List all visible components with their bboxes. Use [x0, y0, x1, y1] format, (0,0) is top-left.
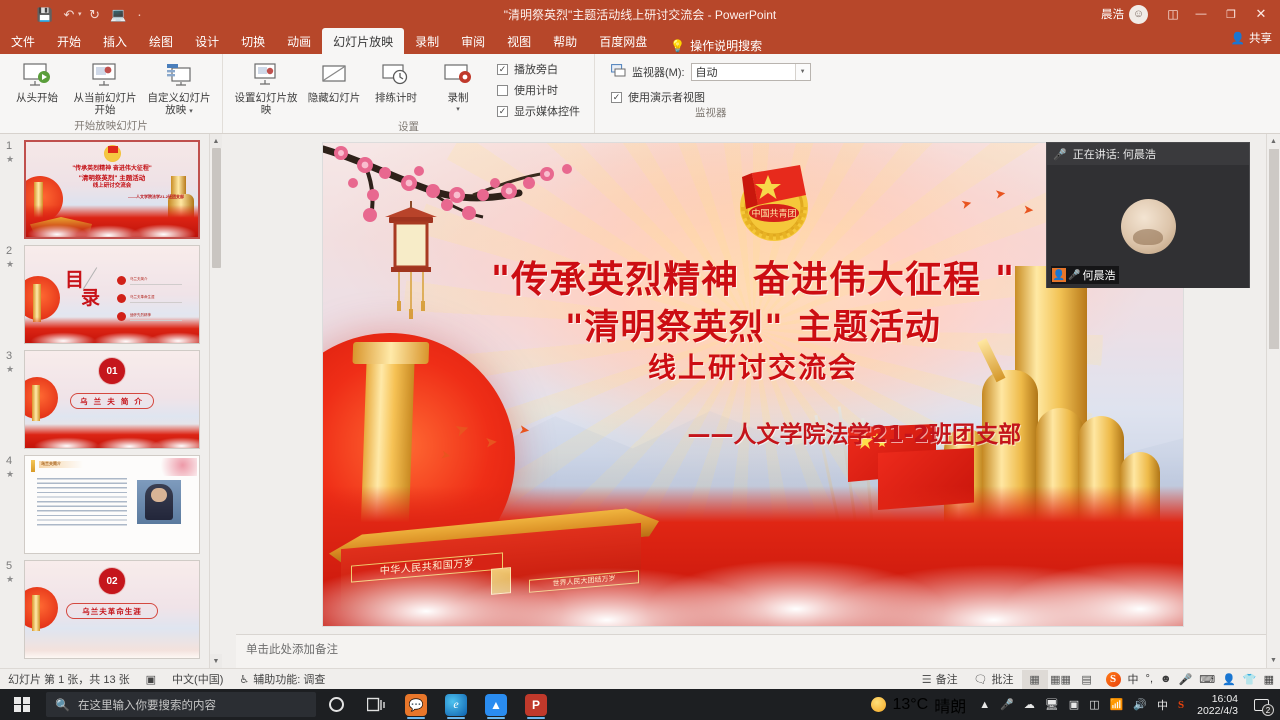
ime-toolbar[interactable]: S 中 °, ☻ 🎤 ⌨ 👤 👕 ▦ — [1100, 671, 1280, 687]
battery-icon[interactable]: ◫ — [1084, 698, 1104, 711]
setup-slideshow-icon — [251, 60, 281, 90]
view-normal-button[interactable]: ▦ — [1022, 670, 1048, 689]
button-custom-slideshow[interactable]: 自定义幻灯片放映 ▾ — [142, 57, 216, 118]
comments-icon: 🗨 — [974, 673, 988, 686]
bird-decoration: ➤ — [994, 186, 1007, 200]
monitor-icon — [611, 64, 626, 80]
emblem-text: 中国共青团 — [751, 208, 796, 220]
ribbon-group-setup: 设置幻灯片放映 隐藏幻灯片 — [222, 54, 594, 133]
button-from-beginning[interactable]: 从头开始 — [6, 57, 68, 104]
thumbnail-3-title: 乌 兰 夫 简 介 — [70, 393, 154, 409]
thumbnail-2-item-1: 乌兰夫简介 — [130, 277, 182, 285]
ribbon-group-monitors: 监视器(M): 自动 ▼ ✓ 使用演示者视图 监视器 — [594, 54, 827, 133]
button-hide-slide-label: 隐藏幻灯片 — [308, 92, 361, 104]
microphone-icon: 🎤 — [1068, 270, 1080, 281]
edge-icon[interactable]: e — [436, 689, 476, 720]
thumbnail-star-3: ★ — [6, 363, 24, 376]
thumbnail-5-title: 乌兰夫革命生涯 — [66, 603, 158, 619]
ribbon-group-start-slideshow: 从头开始 从当前幻灯片开始 — [0, 54, 222, 133]
thumbnail-scroll-thumb[interactable] — [212, 148, 221, 268]
button-hide-slide[interactable]: 隐藏幻灯片 — [303, 57, 365, 104]
comments-button-label: 批注 — [992, 671, 1014, 687]
tab-animations[interactable]: 动画 — [276, 28, 322, 54]
tab-file[interactable]: 文件 — [0, 28, 46, 54]
thumbnail-preview-5[interactable]: 02 乌兰夫革命生涯 — [24, 560, 200, 659]
youth-league-emblem: 中国共青团 — [728, 155, 820, 247]
thumbnail-star-5: ★ — [6, 573, 24, 586]
accessibility-label: 辅助功能: 调查 — [253, 671, 325, 687]
slide-title-line-3[interactable]: 线上研讨交流会 — [323, 346, 1183, 386]
tell-me-label: 操作说明搜索 — [690, 37, 762, 54]
tab-draw[interactable]: 绘图 — [138, 28, 184, 54]
tab-view[interactable]: 视图 — [496, 28, 542, 54]
rehearse-timings-icon — [381, 60, 411, 90]
tab-review[interactable]: 审阅 — [450, 28, 496, 54]
wifi-icon[interactable]: 📶 — [1105, 698, 1129, 711]
language-label[interactable]: 中文(中国) — [164, 671, 231, 687]
play-from-current-icon — [90, 60, 120, 90]
record-icon — [443, 60, 473, 90]
play-from-start-icon — [22, 60, 52, 90]
thumbnail-number-5: 5 — [6, 560, 12, 572]
ribbon-tabs: 文件 开始 插入 绘图 设计 切换 动画 幻灯片放映 录制 审阅 视图 帮助 百… — [0, 28, 1280, 54]
minimize-button[interactable]: — — [1186, 0, 1216, 28]
notes-pane[interactable]: 单击此处添加备注 — [236, 634, 1266, 668]
thumbnail-5-badge: 02 — [98, 567, 126, 595]
tab-design[interactable]: 设计 — [184, 28, 230, 54]
participant-name-tag: 👤 🎤 何晨浩 — [1051, 266, 1119, 284]
ime-keyboard-icon[interactable]: ⌨ — [1199, 673, 1215, 686]
tab-home[interactable]: 开始 — [46, 28, 92, 54]
thumbnail-item-3[interactable]: 3 ★ 01 乌 兰 夫 简 介 — [0, 344, 222, 449]
checkbox-use-timings[interactable]: 使用计时 — [497, 82, 580, 98]
checkbox-use-presenter-view-box[interactable]: ✓ — [611, 92, 622, 103]
checkbox-show-media-controls-label: 显示媒体控件 — [514, 103, 580, 119]
checkbox-use-presenter-view-label: 使用演示者视图 — [628, 89, 705, 105]
cloud-icon[interactable]: ☁ — [1019, 698, 1040, 711]
custom-slideshow-icon — [164, 60, 194, 90]
checkbox-use-presenter-view[interactable]: ✓ 使用演示者视图 — [611, 89, 811, 105]
participant-name: 何晨浩 — [1082, 267, 1115, 283]
monitor-label: 监视器(M): — [632, 64, 685, 80]
scroll-up-icon[interactable]: ▲ — [1267, 134, 1280, 149]
thumbnail-4-title: 乌兰夫简介 — [41, 461, 61, 467]
ribbon-group-start-slideshow-label: 开始放映幻灯片 — [6, 118, 216, 135]
clock-date: 2022/4/3 — [1197, 705, 1238, 717]
restore-button[interactable]: ❐ — [1216, 0, 1246, 28]
sogou-tray-icon[interactable]: S — [1173, 699, 1189, 711]
thumbnail-item-2[interactable]: 2 ★ 目 录 乌兰夫简介 — [0, 239, 222, 344]
ribbon: 从头开始 从当前幻灯片开始 — [0, 54, 1280, 134]
slide-thumbnail-pane[interactable]: 1 ★ "传承英烈精神 奋进伟大征程" "清明祭英烈" 主题活动 — [0, 134, 222, 668]
tray-chevron-icon[interactable]: ▲ — [974, 699, 995, 711]
ribbon-display-options-icon[interactable]: ◫ — [1160, 1, 1186, 27]
status-bar: 幻灯片 第 1 张，共 13 张 ▣ 中文(中国) ♿ 辅助功能: 调查 ☰ 备… — [0, 668, 1280, 689]
ime-microphone-icon[interactable]: 🎤 — [1179, 673, 1193, 686]
tab-record[interactable]: 录制 — [404, 28, 450, 54]
person-icon: 👤 — [1052, 268, 1066, 282]
accessibility-status[interactable]: ♿ 辅助功能: 调查 — [231, 671, 333, 687]
start-presentation-icon[interactable]: 💻 — [108, 3, 130, 25]
window-title: "清明祭英烈"主题活动线上研讨交流会 - PowerPoint — [0, 6, 1280, 23]
microphone-icon: 🎤 — [1053, 148, 1067, 161]
tab-slideshow[interactable]: 幻灯片放映 — [322, 28, 404, 54]
weather-condition: 晴朗 — [934, 693, 966, 717]
button-record[interactable]: 录制 ▾ — [427, 57, 489, 116]
powerpoint-icon[interactable]: P — [516, 689, 556, 720]
avatar[interactable]: ☺ — [1129, 5, 1148, 24]
button-record-label: 录制 — [448, 92, 469, 104]
scroll-thumb[interactable] — [1269, 149, 1279, 349]
share-button[interactable]: 👤 共享 — [1231, 30, 1272, 46]
slide-count-label[interactable]: 幻灯片 第 1 张，共 13 张 — [0, 671, 138, 687]
clouds-decoration — [323, 532, 1183, 627]
weather-widget[interactable]: 13°C 晴朗 — [867, 693, 974, 717]
ime-emoji-icon[interactable]: ☻ — [1160, 673, 1172, 685]
thumbnail-2-mu: 目 — [65, 272, 84, 289]
thumbnail-2-item-3: 缅怀先烈精神 — [130, 313, 182, 321]
thumbnail-item-1[interactable]: 1 ★ "传承英烈精神 奋进伟大征程" "清明祭英烈" 主题活动 — [0, 134, 222, 239]
sogou-ime-logo[interactable]: S — [1106, 672, 1121, 687]
notes-button-label: 备注 — [936, 671, 958, 687]
search-icon: 🔍 — [55, 698, 70, 712]
ime-indicator[interactable]: 中 — [1152, 697, 1173, 713]
button-from-current-slide-label: 从当前幻灯片开始 — [69, 92, 141, 116]
meeting-video-body[interactable]: 👤 🎤 何晨浩 — [1047, 165, 1249, 288]
title-bar-right: 晨浩 ☺ ◫ — ❐ ✕ — [1101, 0, 1280, 28]
button-rehearse-timings-label: 排练计时 — [375, 92, 417, 104]
view-reading-button[interactable]: ▤ — [1074, 670, 1100, 689]
share-person-icon: 👤 — [1231, 31, 1245, 45]
scroll-down-icon[interactable]: ▼ — [1267, 653, 1280, 668]
thumbnail-star-4: ★ — [6, 468, 24, 481]
cortana-icon[interactable] — [316, 689, 356, 720]
search-placeholder: 在这里输入你要搜索的内容 — [78, 697, 216, 713]
thumbnail-1-subtitle: ——人文学院法学21-2班团支部 — [128, 194, 184, 200]
thumbnail-star-1: ★ — [6, 153, 24, 166]
view-slide-sorter-button[interactable]: ▦▦ — [1048, 670, 1074, 689]
thumbnail-number-4: 4 — [6, 455, 12, 467]
ime-skin-icon[interactable]: 👕 — [1243, 673, 1257, 686]
bird-decoration: ➤ — [1023, 203, 1035, 217]
powerpoint-window: 💾 ↶ ▾ ↻ 💻 · "清明祭英烈"主题活动线上研讨交流会 - PowerPo… — [0, 0, 1280, 720]
thumbnail-number-2: 2 — [6, 245, 12, 257]
quick-access-toolbar: 💾 ↶ ▾ ↻ 💻 · — [0, 3, 148, 25]
clock-time: 16:04 — [1212, 693, 1238, 705]
button-from-beginning-label: 从头开始 — [16, 92, 58, 104]
redo-icon[interactable]: ↻ — [84, 3, 106, 25]
thumbnail-item-5[interactable]: 5 ★ 02 乌兰夫革命生涯 — [0, 554, 222, 659]
close-button[interactable]: ✕ — [1246, 0, 1276, 28]
thumbnail-preview-3[interactable]: 01 乌 兰 夫 简 介 — [24, 350, 200, 449]
microphone-icon[interactable]: 🎤 — [995, 698, 1019, 711]
lightbulb-icon: 💡 — [670, 39, 685, 53]
system-tray: 13°C 晴朗 ▲ 🎤 ☁ 🖥 ▣ ◫ 📶 🔊 中 S 16:04 2022/4… — [867, 689, 1280, 720]
ime-punctuation-toggle[interactable]: °, — [1146, 673, 1153, 685]
hide-slide-icon — [319, 60, 349, 90]
task-view-icon[interactable] — [356, 689, 396, 720]
tell-me-search[interactable]: 💡 操作说明搜索 — [658, 37, 762, 54]
thumbnail-number-1: 1 — [6, 140, 12, 152]
thumbnail-star-2: ★ — [6, 258, 24, 271]
slide-title-line-2[interactable]: "清明祭英烈" 主题活动 — [323, 299, 1183, 350]
slide-layout-icon[interactable]: ▣ — [138, 673, 164, 686]
wechat-icon[interactable]: 💬 — [396, 689, 436, 720]
bird-decoration: ➤ — [484, 434, 498, 450]
custom-slideshow-caret-icon[interactable]: ▾ — [189, 108, 193, 115]
taskbar-search-box[interactable]: 🔍 在这里输入你要搜索的内容 — [46, 692, 316, 717]
speaking-label: 正在讲话: 何晨浩 — [1073, 146, 1156, 162]
setup-checkbox-group: ✓ 播放旁白 使用计时 ✓ 显示媒体控件 — [489, 57, 588, 119]
thumbnail-2-item-2: 乌兰夫革命生涯 — [130, 295, 182, 303]
thumbnail-scroll-up-icon[interactable]: ▲ — [210, 134, 222, 148]
notes-icon: ☰ — [922, 673, 932, 686]
checkbox-use-timings-label: 使用计时 — [514, 82, 558, 98]
save-icon[interactable]: 💾 — [34, 3, 56, 25]
thumbnail-preview-2[interactable]: 目 录 乌兰夫简介 乌兰夫革命生涯 缅怀先烈精神 — [24, 245, 200, 344]
tab-transitions[interactable]: 切换 — [230, 28, 276, 54]
thumbnail-scrollbar[interactable]: ▲ ▼ — [209, 134, 222, 668]
ime-apps-icon[interactable]: ▦ — [1264, 673, 1274, 686]
notification-count: 2 — [1262, 704, 1274, 716]
button-set-up-slideshow-label: 设置幻灯片放映 — [230, 92, 302, 116]
button-set-up-slideshow[interactable]: 设置幻灯片放映 — [229, 57, 303, 116]
thumbnail-preview-1[interactable]: "传承英烈精神 奋进伟大征程" "清明祭英烈" 主题活动 线上研讨交流会 ——人… — [24, 140, 200, 239]
weather-temperature: 13°C — [892, 696, 928, 714]
qat-more-icon[interactable]: · — [132, 3, 148, 25]
thumbnail-preview-4[interactable]: 乌兰夫简介 — [24, 455, 200, 554]
volume-icon[interactable]: 🔊 — [1128, 698, 1152, 711]
notification-center-icon[interactable]: 2 — [1246, 689, 1276, 720]
chevron-down-icon[interactable]: ▼ — [795, 64, 810, 80]
monitor-select[interactable]: 自动 ▼ — [691, 63, 811, 81]
meeting-video-header: 🎤 正在讲话: 何晨浩 — [1047, 143, 1249, 165]
checkbox-show-media-controls-box[interactable]: ✓ — [497, 106, 508, 117]
meeting-video-panel[interactable]: 🎤 正在讲话: 何晨浩 👤 🎤 何晨浩 — [1046, 142, 1250, 288]
button-from-current-slide[interactable]: 从当前幻灯片开始 — [68, 57, 142, 116]
thumbnail-1-title1: "传承英烈精神 奋进伟大征程" — [26, 163, 198, 172]
undo-caret-icon[interactable]: ▾ — [78, 10, 82, 18]
thumbnail-item-4[interactable]: 4 ★ 乌兰夫简介 — [0, 449, 222, 554]
thumbnail-scroll-down-icon[interactable]: ▼ — [210, 654, 222, 668]
button-rehearse-timings[interactable]: 排练计时 — [365, 57, 427, 104]
ime-user-icon[interactable]: 👤 — [1222, 673, 1236, 686]
tab-baidu-netdisk[interactable]: 百度网盘 — [588, 28, 658, 54]
tab-help[interactable]: 帮助 — [542, 28, 588, 54]
account-name: 晨浩 — [1101, 6, 1124, 22]
record-caret-icon[interactable]: ▾ — [448, 104, 469, 116]
title-bar: 💾 ↶ ▾ ↻ 💻 · "清明祭英烈"主题活动线上研讨交流会 - PowerPo… — [0, 0, 1280, 28]
taskbar-clock[interactable]: 16:04 2022/4/3 — [1189, 693, 1246, 717]
undo-icon[interactable]: ↶ — [58, 3, 80, 25]
checkbox-use-timings-box[interactable] — [497, 85, 508, 96]
ribbon-group-monitors-label: 监视器 — [601, 105, 821, 122]
checkbox-play-narrations-box[interactable]: ✓ — [497, 64, 508, 75]
checkbox-play-narrations[interactable]: ✓ 播放旁白 — [497, 61, 580, 77]
accessibility-icon: ♿ — [239, 673, 249, 686]
thumbnail-1-title3: 线上研讨交流会 — [26, 181, 198, 189]
windows-start-icon[interactable] — [0, 689, 44, 720]
screen-icon[interactable]: ▣ — [1064, 698, 1084, 711]
display-icon[interactable]: 🖥 — [1040, 698, 1064, 711]
thumbnail-number-3: 3 — [6, 350, 12, 362]
button-custom-slideshow-label: 自定义幻灯片放映 — [148, 92, 211, 116]
checkbox-show-media-controls[interactable]: ✓ 显示媒体控件 — [497, 103, 580, 119]
ime-language-toggle[interactable]: 中 — [1128, 671, 1139, 687]
thumbnail-3-badge: 01 — [98, 357, 126, 385]
tab-insert[interactable]: 插入 — [92, 28, 138, 54]
meeting-icon[interactable]: ▲ — [476, 689, 516, 720]
comments-button[interactable]: 🗨 批注 — [966, 671, 1022, 687]
share-label: 共享 — [1249, 30, 1272, 46]
bird-decoration: ➤ — [518, 422, 531, 436]
checkbox-play-narrations-label: 播放旁白 — [514, 61, 558, 77]
slide-subtitle[interactable]: ——人文学院法学21-2班团支部 — [687, 415, 1021, 449]
windows-taskbar: 🔍 在这里输入你要搜索的内容 💬 e ▲ P 13°C 晴朗 ▲ — [0, 689, 1280, 720]
thumbnail-2-lu: 录 — [81, 290, 100, 307]
main-vertical-scrollbar[interactable]: ▲ ▼ — [1266, 134, 1280, 668]
monitor-select-value: 自动 — [696, 64, 718, 80]
participant-avatar — [1121, 199, 1176, 254]
notes-button[interactable]: ☰ 备注 — [914, 671, 966, 687]
sun-icon — [871, 697, 886, 712]
